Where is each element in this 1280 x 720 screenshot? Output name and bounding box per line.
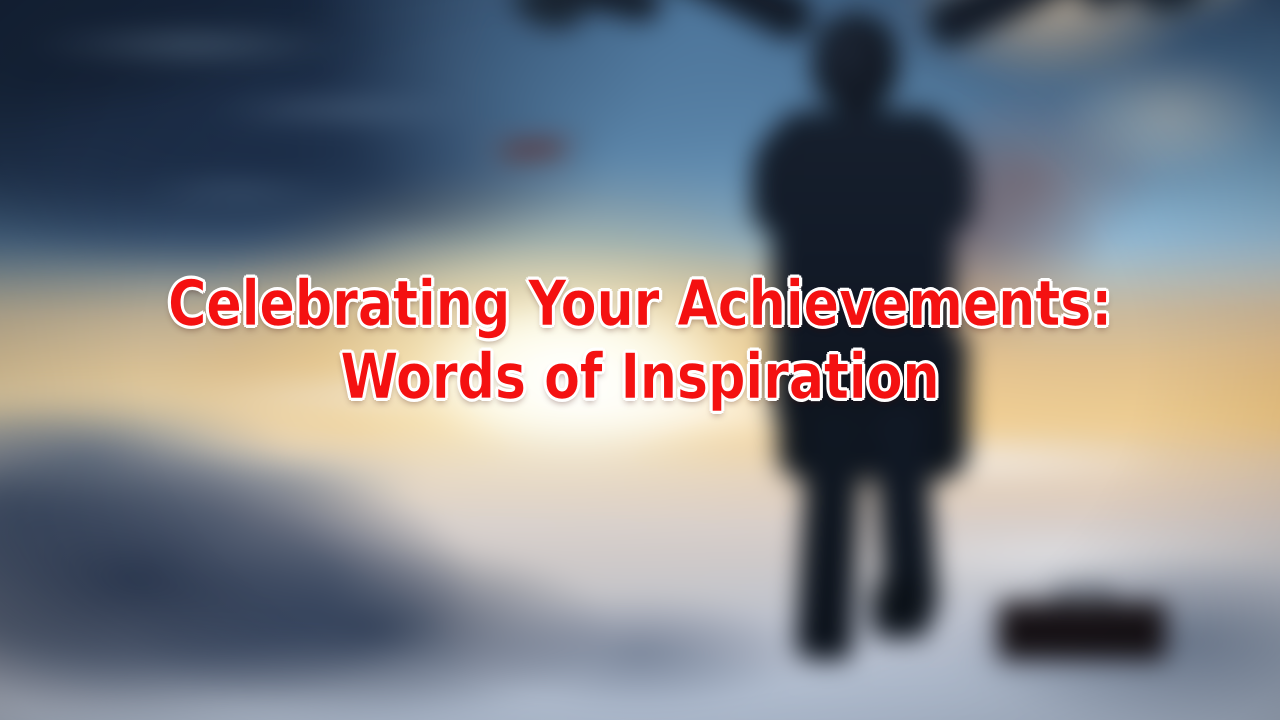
biplane-lower-wing [480, 153, 578, 164]
biplane-silhouette [474, 126, 590, 168]
background-photo [0, 0, 1280, 720]
head [812, 12, 898, 110]
right-shoe [872, 576, 930, 638]
briefcase-body [998, 602, 1166, 660]
hero-banner: Celebrating Your Achievements: Words of … [0, 0, 1280, 720]
